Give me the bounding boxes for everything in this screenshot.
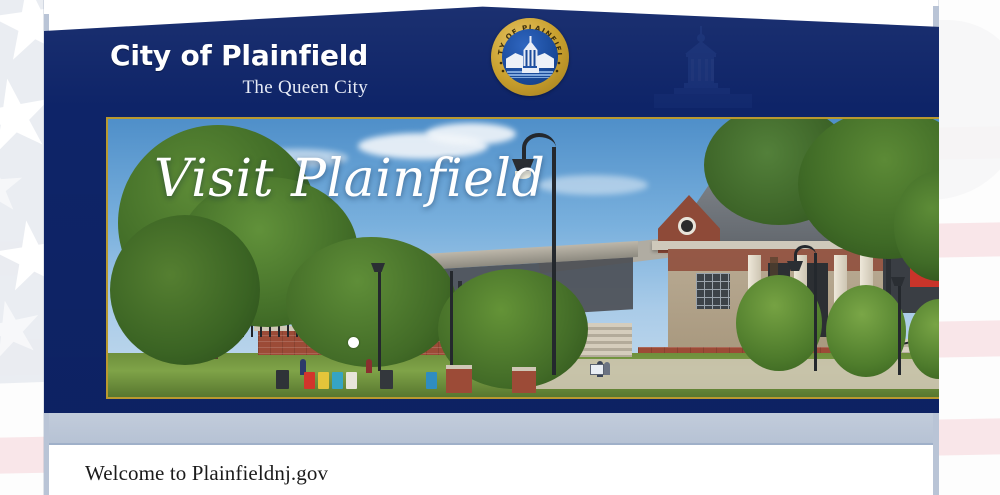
slide-dot-active[interactable]: [348, 337, 359, 348]
shrub: [826, 285, 906, 377]
tree-canopy: [286, 237, 456, 367]
banner-headline: Visit Plainfield: [154, 149, 545, 209]
site-tagline: The Queen City: [110, 77, 368, 99]
cloud: [426, 123, 516, 145]
slideshow-indicators[interactable]: [348, 337, 359, 348]
brick-pillar: [446, 365, 472, 393]
pedestrian: [604, 362, 610, 375]
recycling-bin: [426, 372, 437, 389]
recycling-bin: [332, 372, 343, 389]
shrub: [736, 275, 822, 371]
site-branding: City of Plainfield The Queen City: [110, 42, 368, 99]
recycling-bin: [346, 372, 357, 389]
visit-plainfield-banner[interactable]: Visit Plainfield: [106, 117, 939, 399]
site-title: City of Plainfield: [110, 42, 368, 70]
welcome-heading: Welcome to Plainfieldnj.gov: [85, 461, 328, 486]
page-root: City of Plainfield The Queen City CITY O…: [0, 0, 1000, 495]
banner-photo: Visit Plainfield: [108, 119, 939, 397]
brick-pillar: [512, 367, 536, 393]
info-sign: [590, 364, 604, 375]
seal-courthouse-icon: [522, 41, 539, 75]
main-content: Welcome to Plainfieldnj.gov: [49, 445, 933, 495]
trash-can: [276, 370, 289, 389]
recycling-bin: [304, 372, 315, 389]
recycling-bin: [318, 372, 329, 389]
tree-canopy: [110, 215, 260, 365]
trash-can: [380, 370, 393, 389]
oculus-window: [678, 217, 696, 235]
pedestrian: [366, 359, 372, 373]
subheader-divider: [49, 443, 933, 445]
cupola-watermark-icon: [654, 24, 752, 108]
grated-window: [696, 273, 730, 309]
site-header: City of Plainfield The Queen City CITY O…: [44, 0, 939, 413]
subheader-slab: [49, 413, 933, 444]
city-seal[interactable]: CITY OF PLAINFIELD NEW JERSEY: [491, 18, 569, 96]
seal-center: [502, 29, 558, 85]
